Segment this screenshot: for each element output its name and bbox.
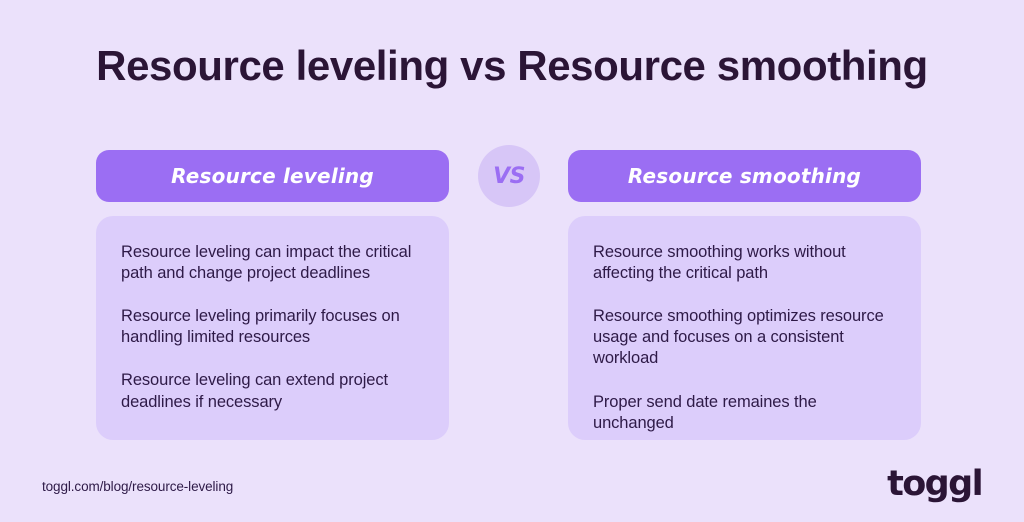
bullet-item: Resource leveling primarily focuses on h… xyxy=(121,306,425,348)
bullet-item: Proper send date remaines the unchanged xyxy=(593,392,897,434)
bullet-item: Resource smoothing optimizes resource us… xyxy=(593,306,897,369)
column-heading-resource-smoothing: Resource smoothing xyxy=(568,150,921,202)
bullet-item: Resource leveling can extend project dea… xyxy=(121,370,425,412)
bullet-item: Resource leveling can impact the critica… xyxy=(121,242,425,284)
page-title: Resource leveling vs Resource smoothing xyxy=(0,42,1024,89)
column-heading-resource-leveling: Resource leveling xyxy=(96,150,449,202)
comparison-column-right: Resource smoothing Resource smoothing wo… xyxy=(568,150,921,440)
source-url: toggl.com/blog/resource-leveling xyxy=(42,479,233,494)
bullet-card-resource-leveling: Resource leveling can impact the critica… xyxy=(96,216,449,440)
bullet-card-resource-smoothing: Resource smoothing works without affecti… xyxy=(568,216,921,440)
toggl-logo: toggl xyxy=(887,467,982,502)
comparison-column-left: Resource leveling Resource leveling can … xyxy=(96,150,449,440)
vs-badge: VS xyxy=(478,145,540,207)
bullet-item: Resource smoothing works without affecti… xyxy=(593,242,897,284)
